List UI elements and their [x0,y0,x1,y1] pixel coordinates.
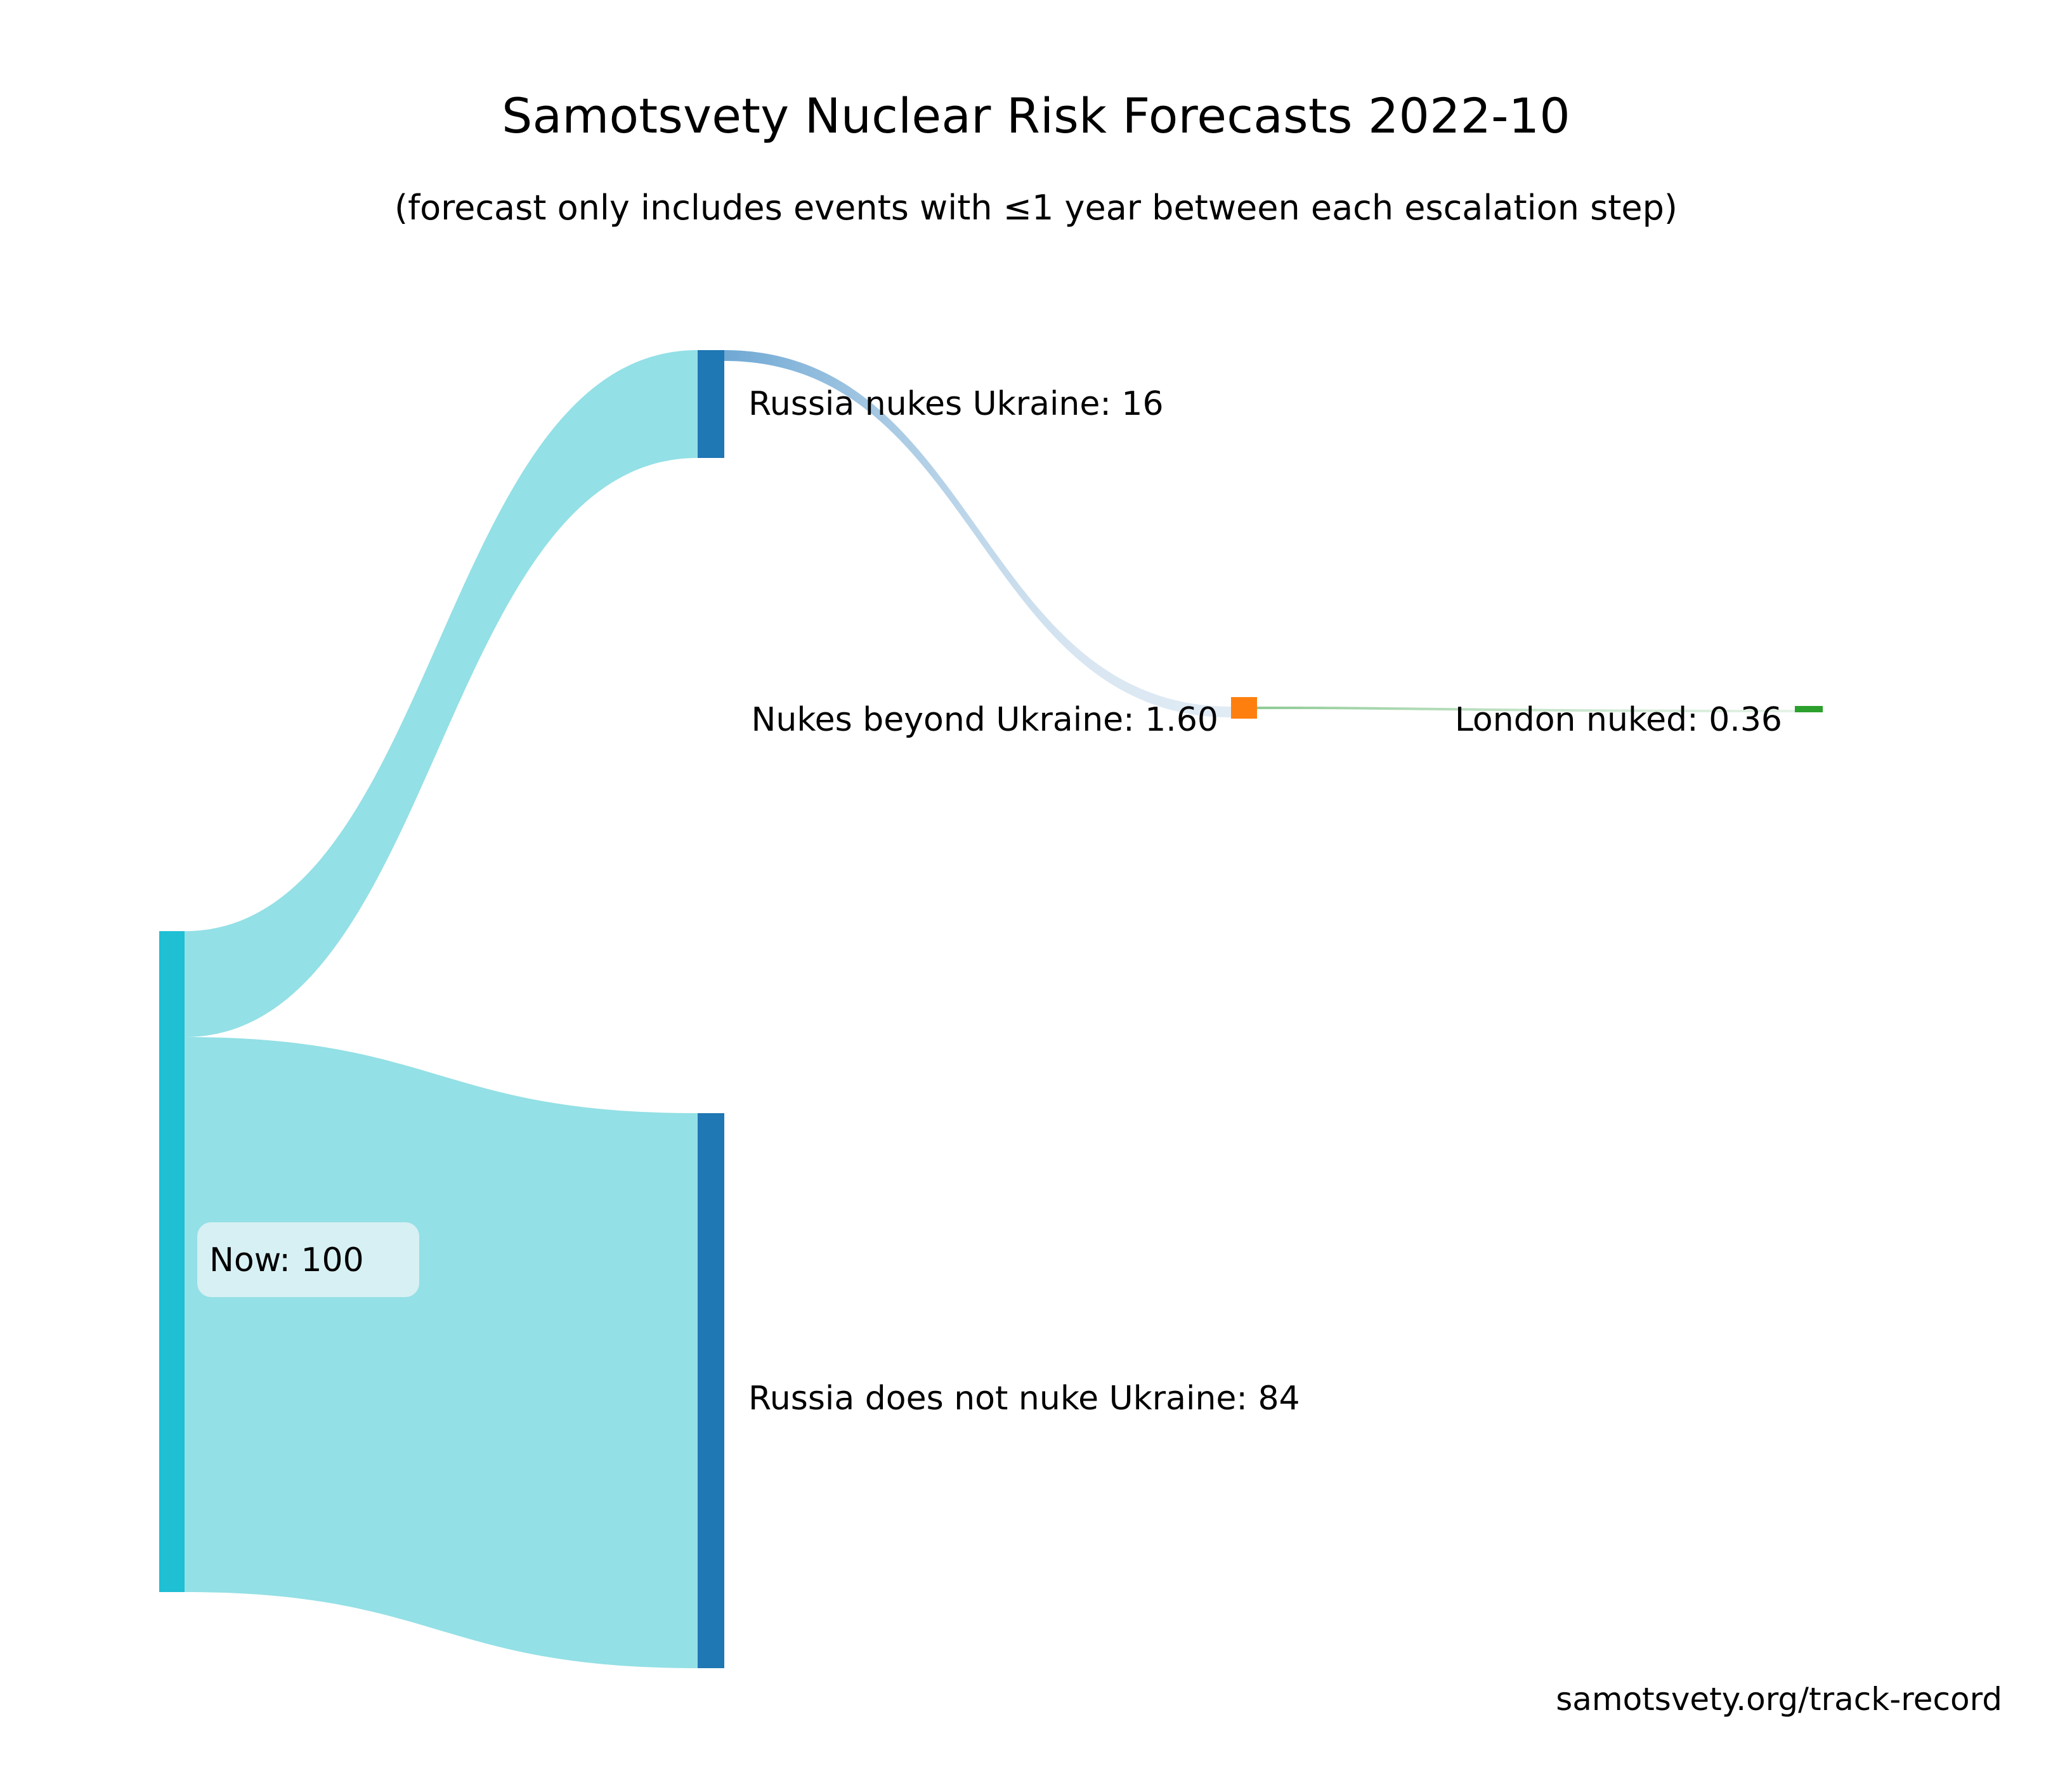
sankey-label-nukes-beyond-ukraine: Nukes beyond Ukraine: 1.60 [752,701,1218,739]
source-attribution: samotsvety.org/track-record [1556,1681,2002,1718]
sankey-node-nukes-beyond-ukraine[interactable] [1231,697,1257,719]
sankey-diagram: Russia nukes Ukraine: 16 Russia does not… [0,0,2072,1776]
sankey-label-russia-does-not-nuke-ukraine: Russia does not nuke Ukraine: 84 [748,1380,1300,1418]
sankey-node-russia-does-not-nuke-ukraine[interactable] [698,1113,724,1668]
sankey-node-russia-nukes-ukraine[interactable] [698,350,724,458]
sankey-chart-canvas: Samotsvety Nuclear Risk Forecasts 2022-1… [0,0,2072,1776]
sankey-label-london-nuked: London nuked: 0.36 [1455,701,1782,739]
sankey-links [185,350,1795,1668]
link-now-to-russia-nukes-ukraine[interactable] [185,350,698,1037]
link-now-to-russia-does-not-nuke-ukraine[interactable] [185,1037,698,1668]
sankey-label-russia-nukes-ukraine: Russia nukes Ukraine: 16 [748,385,1164,423]
sankey-label-now: Now: 100 [209,1241,364,1279]
sankey-node-now[interactable] [159,931,185,1592]
sankey-node-london-nuked[interactable] [1795,706,1823,712]
